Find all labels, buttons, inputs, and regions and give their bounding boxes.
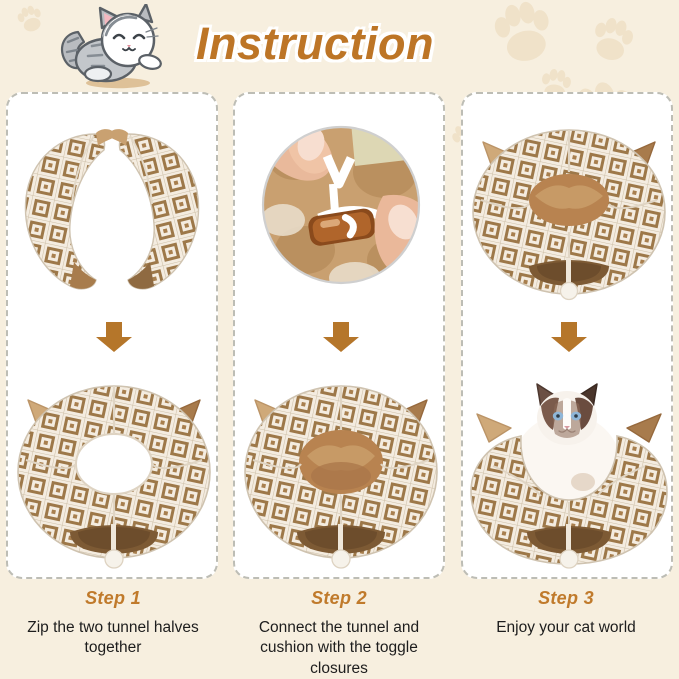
caption-step-2: Step 2 Connect the tunnel and cushion wi… [226, 588, 452, 679]
caption-step-1: Step 1 Zip the two tunnel halves togethe… [0, 588, 226, 659]
cat-mascot-icon [52, 4, 178, 90]
image-zipped-donut-tunnel-ring [8, 356, 220, 576]
step-label-3: Step 3 [453, 588, 679, 609]
instruction-infographic: Instruction [0, 0, 679, 679]
panel-step-1 [6, 92, 218, 579]
image-toggle-closure-closeup [235, 100, 447, 315]
step-text-3: Enjoy your cat world [453, 618, 679, 638]
panel-step-2 [233, 92, 445, 579]
down-arrow-icon [463, 320, 675, 354]
image-two-unzipped-tunnel-halves [8, 100, 220, 315]
step-label-2: Step 2 [226, 588, 452, 609]
step-text-1: Zip the two tunnel halves together [0, 618, 226, 659]
image-assembled-cat-tunnel-bed [463, 100, 675, 315]
step-text-2: Connect the tunnel and cushion with the … [226, 618, 452, 679]
panel-step-3 [461, 92, 673, 579]
image-tunnel-with-cushion [235, 356, 447, 576]
caption-step-3: Step 3 Enjoy your cat world [453, 588, 679, 638]
image-ragdoll-cat-in-bed [463, 356, 675, 576]
step-label-1: Step 1 [0, 588, 226, 609]
down-arrow-icon [8, 320, 220, 354]
down-arrow-icon [235, 320, 447, 354]
header: Instruction [0, 0, 679, 92]
page-title: Instruction [196, 14, 496, 74]
